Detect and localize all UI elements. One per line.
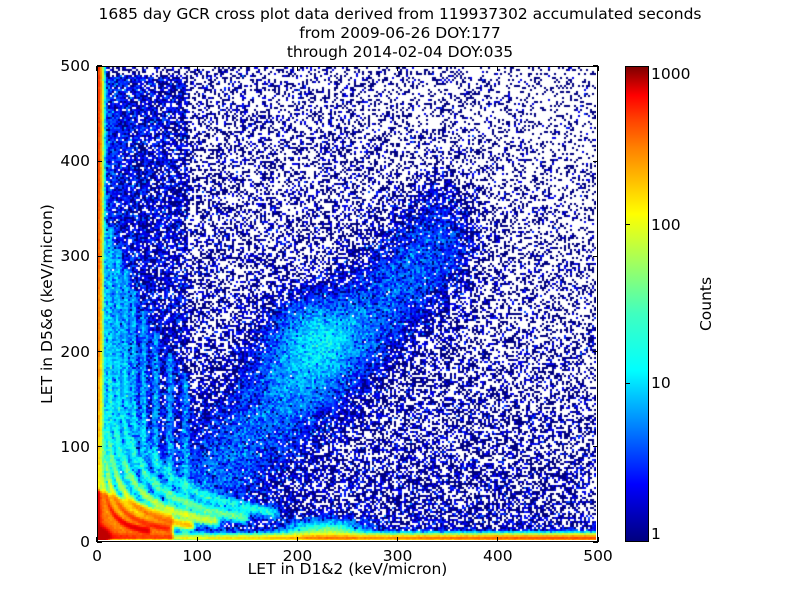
colorbar: [625, 66, 649, 542]
figure-canvas: 1685 day GCR cross plot data derived fro…: [0, 0, 800, 600]
y-tick: [97, 351, 102, 352]
title-line-3: through 2014-02-04 DOY:035: [0, 43, 800, 62]
colorbar-tick-label: 100: [651, 216, 681, 234]
colorbar-tick-label: 1: [651, 525, 661, 543]
y-tick-right: [593, 351, 598, 352]
y-tick: [97, 541, 102, 542]
title-line-2: from 2009-06-26 DOY:177: [0, 24, 800, 43]
colorbar-tick: [625, 383, 630, 384]
x-tick-top: [96, 66, 97, 71]
colorbar-tick-label: 1000: [651, 65, 690, 83]
x-axis-title: LET in D1&2 (keV/micron): [97, 560, 598, 578]
x-tick-top: [597, 66, 598, 71]
y-axis-title: LET in D5&6 (keV/micron): [38, 204, 56, 404]
x-tick: [497, 537, 498, 542]
y-tick: [97, 161, 102, 162]
y-tick: [97, 65, 102, 66]
colorbar-title: Counts: [697, 277, 715, 331]
y-tick: [97, 256, 102, 257]
colorbar-tick: [625, 224, 630, 225]
colorbar-tick-label: 10: [651, 374, 671, 392]
x-tick-top: [297, 66, 298, 71]
x-tick-top: [197, 66, 198, 71]
x-tick-top: [497, 66, 498, 71]
y-tick-right: [593, 446, 598, 447]
scatter-density-plot: [98, 67, 596, 540]
colorbar-gradient: [625, 66, 649, 542]
y-tick-right: [593, 65, 598, 66]
y-tick-right: [593, 256, 598, 257]
plot-axes: [97, 66, 598, 542]
title-line-1: 1685 day GCR cross plot data derived fro…: [0, 5, 800, 24]
y-tick: [97, 446, 102, 447]
plot-title: 1685 day GCR cross plot data derived fro…: [0, 5, 800, 62]
y-tick-right: [593, 161, 598, 162]
x-tick: [397, 537, 398, 542]
x-tick: [197, 537, 198, 542]
y-axis-title-wrap: LET in D5&6 (keV/micron): [38, 0, 60, 600]
x-tick: [297, 537, 298, 542]
y-tick-right: [593, 541, 598, 542]
x-tick-top: [397, 66, 398, 71]
